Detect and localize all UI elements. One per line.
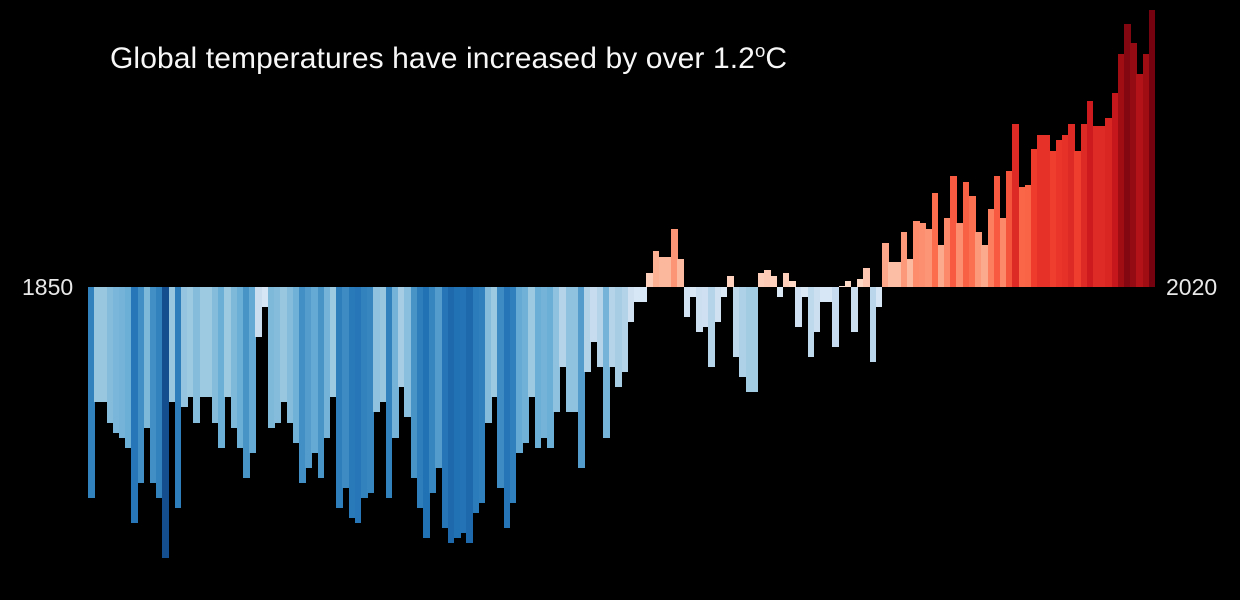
warming-stripes-figure: Global temperatures have increased by ov… — [0, 0, 1240, 600]
bar-year-1945 — [677, 259, 684, 287]
bar-year-1973 — [851, 287, 858, 332]
bar-year-1953 — [727, 276, 734, 287]
bar-year-1957 — [752, 287, 759, 392]
bar-year-1975 — [863, 268, 870, 287]
axis-label-start-year: 1850 — [22, 276, 73, 299]
bar-year-1952 — [721, 287, 728, 297]
axis-label-end-year: 2020 — [1166, 276, 1217, 299]
bar-year-1939 — [640, 287, 647, 302]
bar-year-1961 — [777, 287, 784, 297]
bar-year-1977 — [876, 287, 883, 307]
bar-year-1970 — [832, 287, 839, 347]
bar-year-undefined — [1149, 10, 1156, 287]
bar-year-1960 — [770, 276, 777, 287]
bar-chart-plot — [88, 0, 1155, 600]
